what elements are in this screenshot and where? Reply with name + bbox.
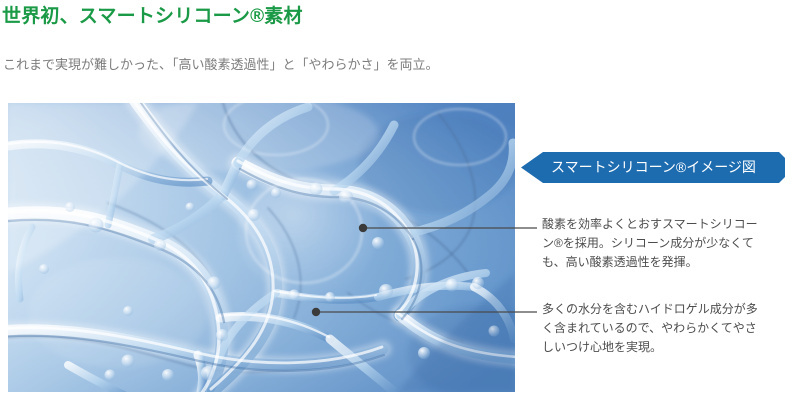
annotation-hydrogel-line-3: しいつけ心地を実現。 (542, 338, 792, 357)
annotation-oxygen-line-3: も、高い酸素透過性を発揮。 (542, 253, 792, 272)
image-caption-banner: スマートシリコーン®イメージ図 (521, 152, 785, 183)
annotation-hydrogel: 多くの水分を含むハイドロゲル成分が多 く含まれているので、やわらかくてやさ しい… (542, 300, 792, 357)
page-title: 世界初、スマートシリコーン®素材 (2, 5, 303, 29)
annotation-oxygen-line-1: 酸素を効率よくとおすスマートシリコー (542, 215, 792, 234)
banner-label: スマートシリコーン®イメージ図 (551, 152, 777, 183)
annotation-oxygen: 酸素を効率よくとおすスマートシリコー ン®を採用。シリコーン成分が少なくて も、… (542, 215, 792, 272)
page-subtitle: これまで実現が難しかった、「高い酸素透過性」と「やわらかさ」を両立。 (3, 56, 439, 74)
microstructure-illustration (8, 103, 515, 392)
annotation-oxygen-line-2: ン®を採用。シリコーン成分が少なくて (542, 234, 792, 253)
annotation-hydrogel-line-2: く含まれているので、やわらかくてやさ (542, 319, 792, 338)
annotation-hydrogel-line-1: 多くの水分を含むハイドロゲル成分が多 (542, 300, 792, 319)
smart-silicone-microstructure-image (8, 103, 515, 392)
